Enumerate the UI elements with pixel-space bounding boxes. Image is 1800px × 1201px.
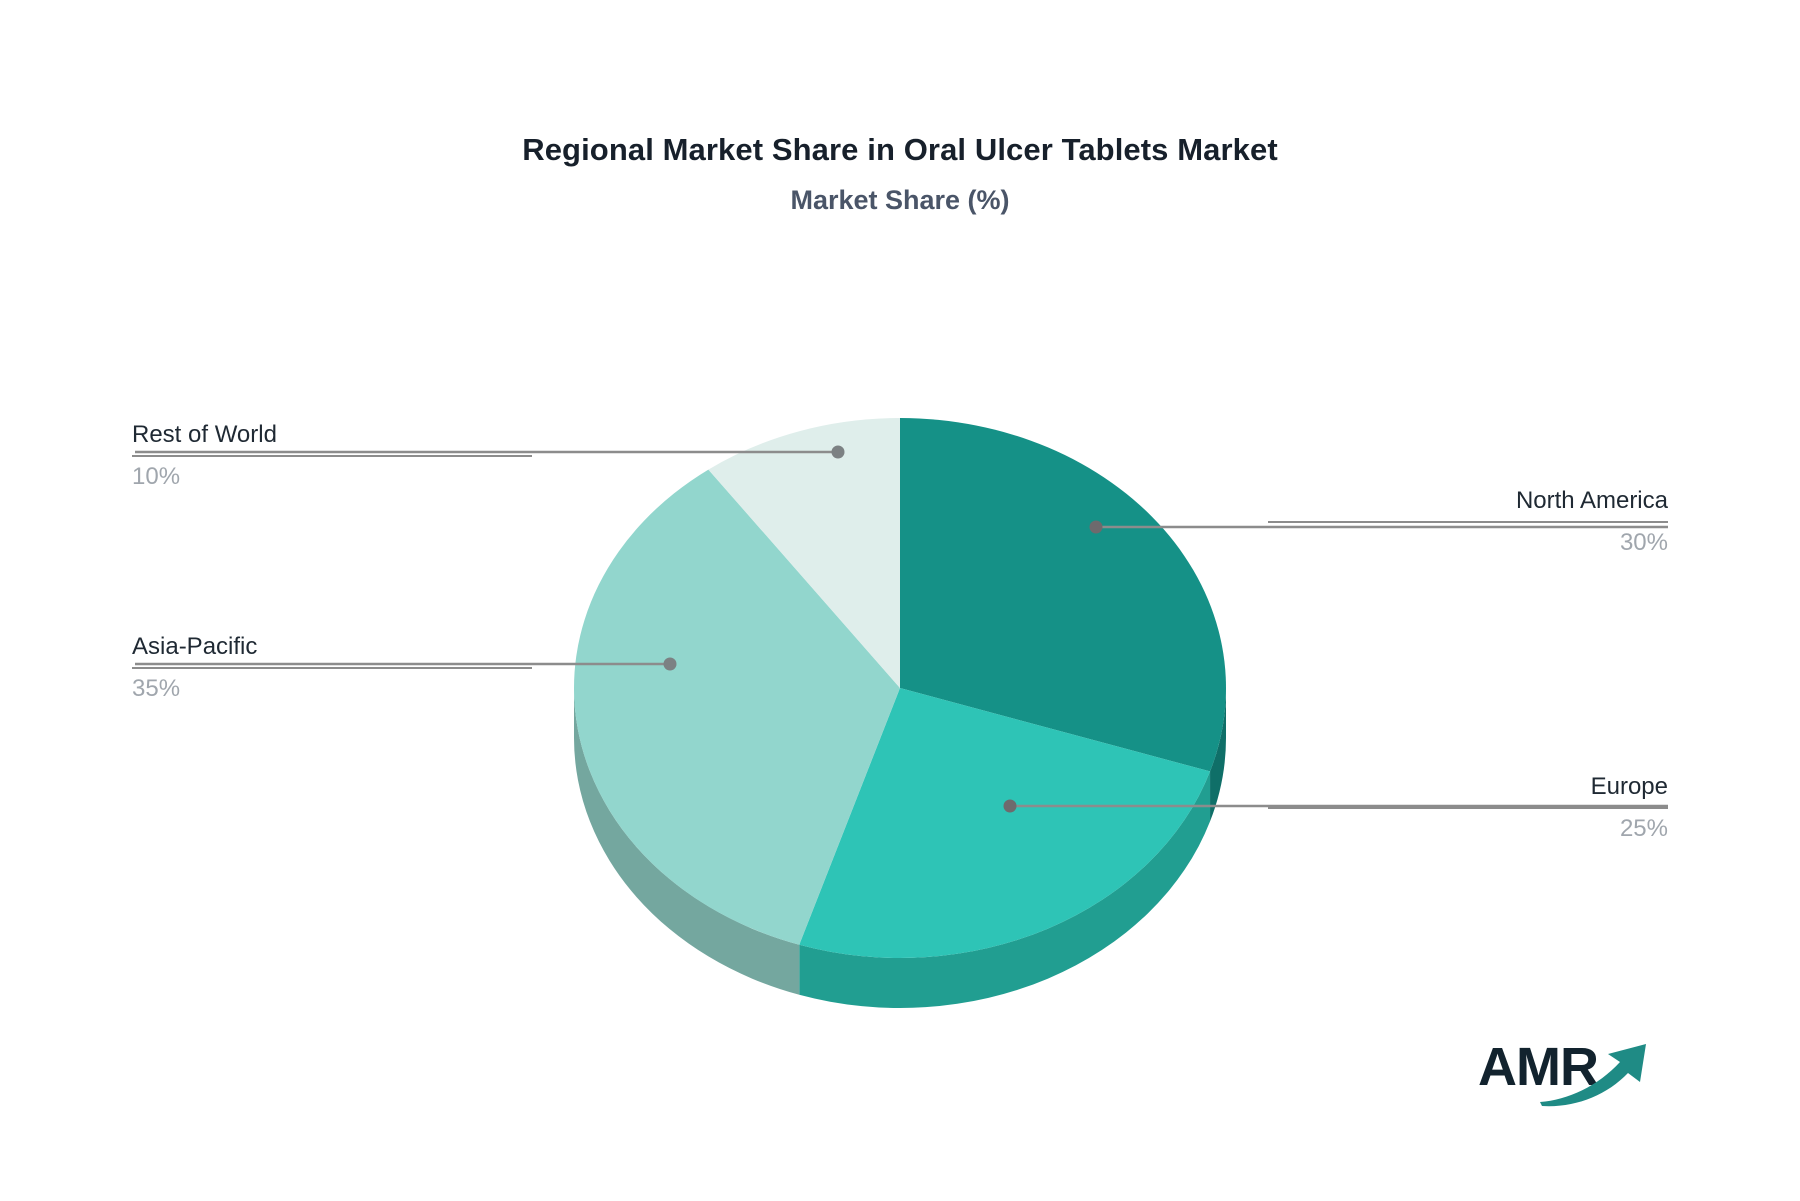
leader-dot-asia-pacific xyxy=(664,658,677,671)
callout-value-rest-of-world: 10% xyxy=(132,462,532,492)
callout-asia-pacific: Asia-Pacific 35% xyxy=(132,632,532,704)
callout-label-asia-pacific: Asia-Pacific xyxy=(132,632,532,662)
callout-rule-asia-pacific xyxy=(132,667,532,669)
callout-north-america: North America 30% xyxy=(1268,486,1668,558)
amr-logo: AMR xyxy=(1478,1036,1668,1110)
pie-chart xyxy=(0,0,1800,1196)
callout-label-north-america: North America xyxy=(1268,486,1668,516)
pie-svg xyxy=(0,0,1800,1196)
callout-rule-north-america xyxy=(1268,521,1668,523)
callout-value-north-america: 30% xyxy=(1268,528,1668,558)
callout-rule-europe xyxy=(1268,807,1668,809)
leader-dot-rest-of-world xyxy=(832,446,845,459)
callout-europe: Europe 25% xyxy=(1268,772,1668,844)
leader-dot-north-america xyxy=(1090,521,1103,534)
callout-label-rest-of-world: Rest of World xyxy=(132,420,532,450)
chart-canvas: Regional Market Share in Oral Ulcer Tabl… xyxy=(0,0,1800,1196)
callout-value-asia-pacific: 35% xyxy=(132,674,532,704)
pie-top-face xyxy=(574,418,1226,958)
callout-value-europe: 25% xyxy=(1268,814,1668,844)
leader-dot-europe xyxy=(1004,800,1017,813)
callout-rest-of-world: Rest of World 10% xyxy=(132,420,532,492)
arrow-up-right-icon xyxy=(1536,1036,1668,1110)
callout-label-europe: Europe xyxy=(1268,772,1668,802)
callout-rule-rest-of-world xyxy=(132,455,532,457)
